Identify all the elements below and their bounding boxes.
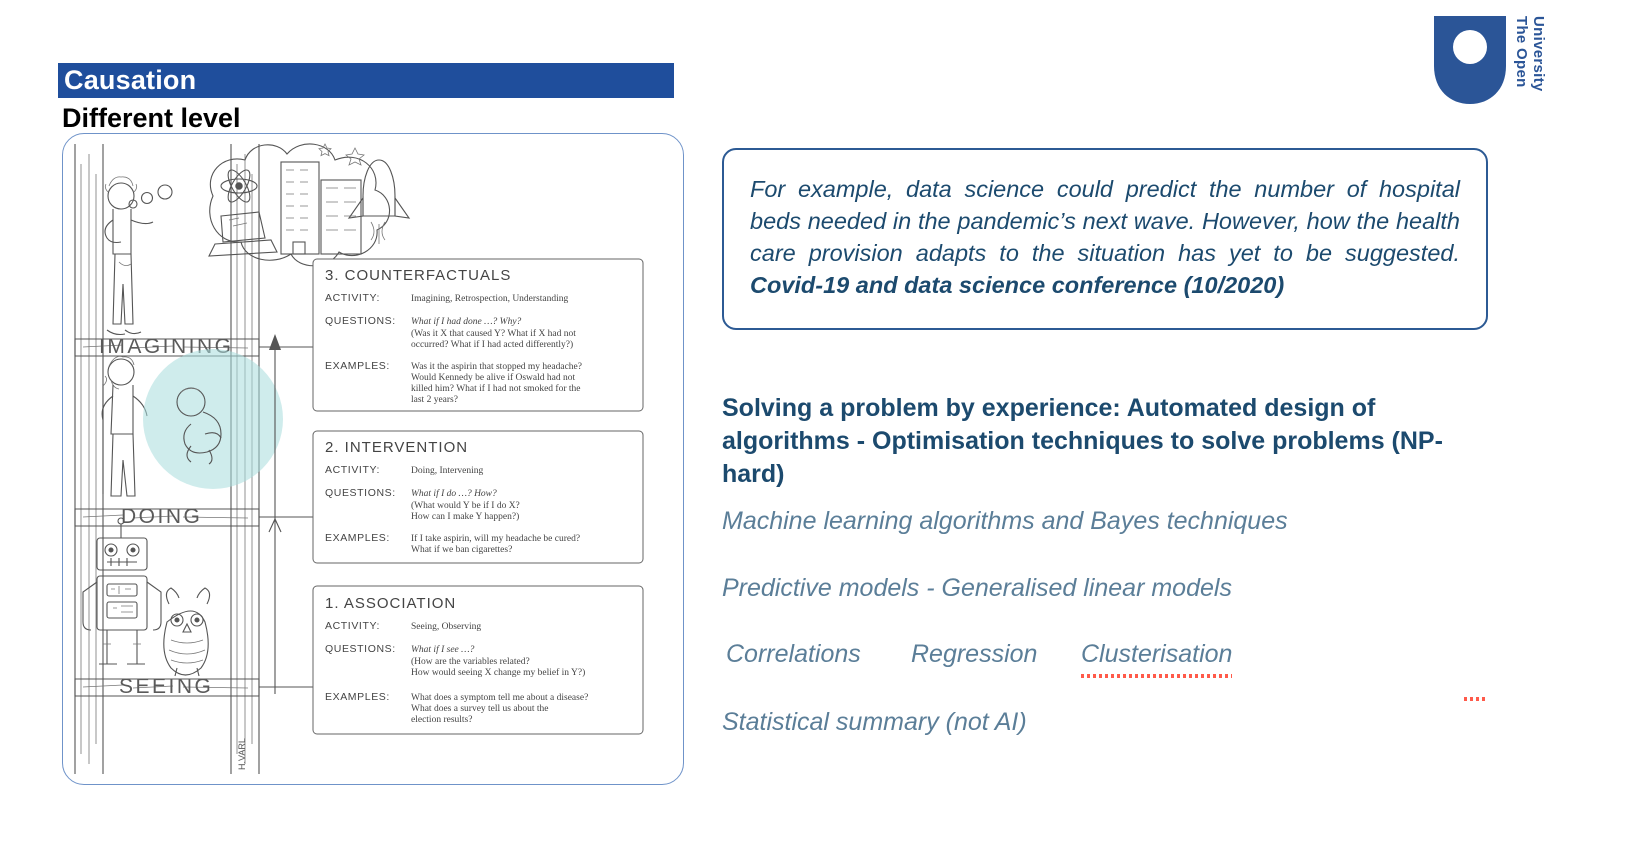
owl-figure [164,588,210,676]
open-university-logo: The Open University [1432,14,1622,106]
svg-text:last 2 years?: last 2 years? [411,395,458,405]
panel-2-title: 2. INTERVENTION [325,439,468,456]
spellcheck-squiggle-icon [1081,674,1232,678]
slide-subtitle: Different level [62,104,241,134]
panel-intervention: 2. INTERVENTION ACTIVITY: Doing, Interve… [313,431,643,563]
panel-counterfactuals: 3. COUNTERFACTUALS ACTIVITY: Imagining, … [313,259,643,411]
highlight-circle [143,349,283,489]
logo-line-1: The Open [1514,16,1529,106]
svg-text:Would Kennedy be alive if Oswa: Would Kennedy be alive if Oswald had not [411,372,575,383]
technique-correlations: Correlations [726,638,911,671]
panel-2-row-0-label: ACTIVITY: [325,464,380,476]
spellcheck-squiggle-secondary-icon [1464,697,1486,701]
buildings-icon [281,162,361,254]
stars-decoration [319,144,364,165]
panel-2-row-1-value: What if I do …? How? [411,488,497,499]
techniques-row: Correlations Regression Clusterisation [726,638,1232,671]
quote-callout-box: For example, data science could predict … [722,148,1488,330]
panel-1-row-2-value: What does a symptom tell me about a dise… [411,693,588,703]
svg-text:What if we ban cigarettes?: What if we ban cigarettes? [411,544,512,555]
svg-text:(Was it X that caused Y? What: (Was it X that caused Y? What if X had n… [411,328,576,339]
panel-3-row-1-value: What if I had done …? Why? [411,316,522,327]
svg-text:occurred? What if I had acted: occurred? What if I had acted differentl… [411,339,573,350]
technique-clusterisation: Clusterisation [1081,638,1232,671]
list-item-machine-learning: Machine learning algorithms and Bayes te… [722,505,1288,538]
panel-3-row-2-value: Was it the aspirin that stopped my heada… [411,362,582,372]
panel-1-title: 1. ASSOCIATION [325,595,456,612]
svg-text:How can I make Y happen?): How can I make Y happen?) [411,511,519,522]
quote-source: Covid-19 and data science conference (10… [750,272,1284,298]
ladder-of-causation-card: .ln{fill:none;stroke:#555;stroke-width:1… [62,133,684,785]
technique-regression: Regression [911,638,1081,671]
panel-1-row-0-label: ACTIVITY: [325,620,380,632]
panel-3-row-1-label: QUESTIONS: [325,315,396,327]
rung-label-seeing: SEEING [119,675,213,698]
panel-2-row-1-label: QUESTIONS: [325,487,396,499]
svg-text:election results?: election results? [411,715,472,725]
slide-canvas: Causation Different level The Open Unive… [0,0,1640,854]
panel-2-row-2-label: EXAMPLES: [325,532,390,544]
robot-figure [83,518,161,664]
artist-signature: H.VARL [237,738,247,770]
section-heading: Solving a problem by experience: Automat… [722,392,1462,491]
list-item-predictive-models: Predictive models - Generalised linear m… [722,572,1232,605]
quote-body: For example, data science could predict … [750,176,1460,266]
rung-label-doing: DOING [121,505,202,528]
panel-1-row-2-label: EXAMPLES: [325,691,390,703]
panel-3-row-2-label: EXAMPLES: [325,360,390,372]
panel-2-row-2-value: If I take aspirin, will my headache be c… [411,533,580,544]
logo-line-2: University [1531,16,1546,106]
caveman-figure [102,356,147,496]
panel-1-row-1-label: QUESTIONS: [325,643,396,655]
svg-text:How would seeing X change my b: How would seeing X change my belief in Y… [411,667,585,678]
svg-text:What does a survey tell us abo: What does a survey tell us about the [411,704,548,714]
panel-3-row-0-label: ACTIVITY: [325,292,380,304]
panel-1-row-1-value: What if I see …? [411,644,475,655]
slide-title-banner: Causation [58,63,674,98]
panel-2-row-0-value: Doing, Intervening [411,466,484,476]
scientist-figure [105,177,153,335]
logo-wordmark: The Open University [1514,16,1546,106]
panel-association: 1. ASSOCIATION ACTIVITY: Seeing, Observi… [313,586,643,734]
list-item-statistical-summary: Statistical summary (not AI) [722,706,1027,739]
svg-text:killed him? What if I had not: killed him? What if I had not smoked for… [411,383,580,394]
ladder-of-causation-illustration: .ln{fill:none;stroke:#555;stroke-width:1… [63,134,681,782]
panel-3-title: 3. COUNTERFACTUALS [325,267,511,284]
slide-title: Causation [58,67,196,94]
quote-text: For example, data science could predict … [750,174,1460,302]
rocket-icon [349,160,409,244]
technique-clusterisation-label: Clusterisation [1081,640,1232,668]
shield-icon [1432,14,1508,106]
panel-3-row-0-value: Imagining, Retrospection, Understanding [411,294,568,304]
panel-1-row-0-value: Seeing, Observing [411,622,481,632]
svg-text:(What would Y be if I do X?: (What would Y be if I do X? [411,500,520,511]
svg-text:(How are the variables related: (How are the variables related? [411,656,530,667]
